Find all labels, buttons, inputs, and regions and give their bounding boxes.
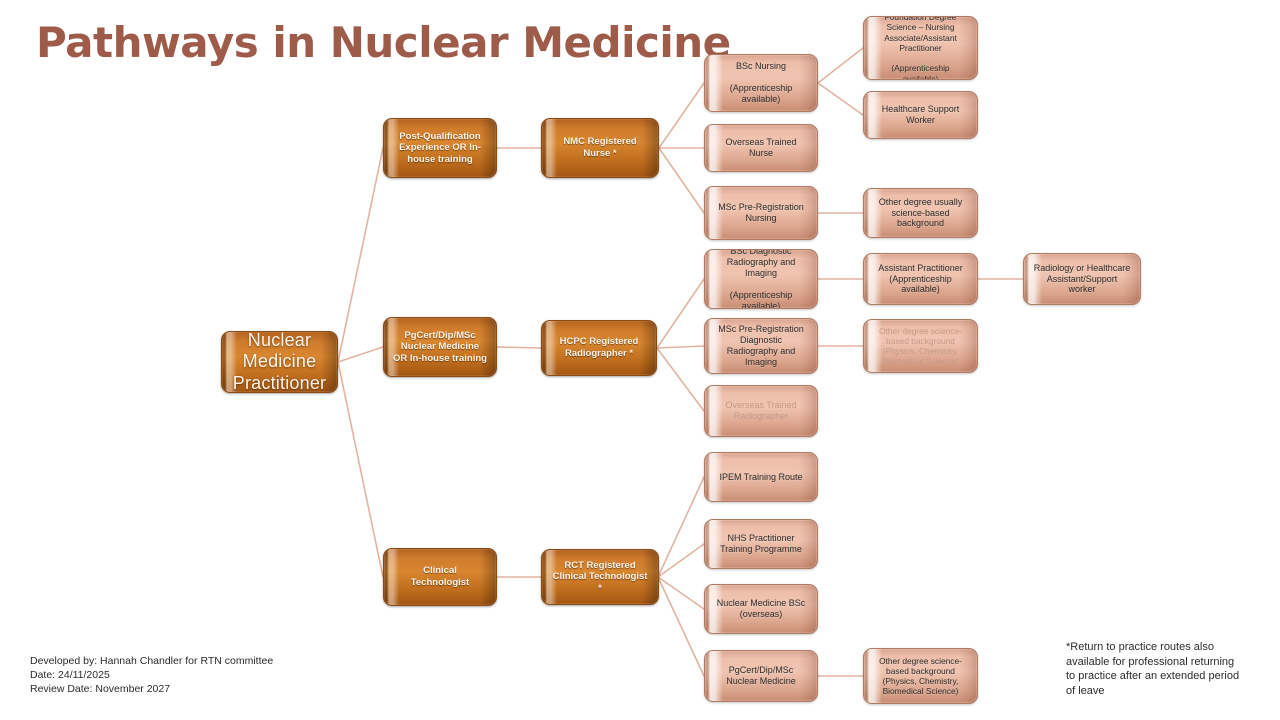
node-foundation-degree-science[interactable]: Foundation Degree Science – Nursing Asso…: [863, 16, 978, 80]
node-post-qualification-experience[interactable]: Post-Qualification Experience OR In-hous…: [383, 118, 497, 178]
node-label: BSc Nursing (Apprenticeship available): [705, 61, 817, 105]
node-pgcert-nuclear-medicine-or-inhouse[interactable]: PgCert/Dip/MSc Nuclear Medicine OR In-ho…: [383, 317, 497, 377]
node-label: RCT Registered Clinical Technologist *: [542, 560, 658, 595]
node-rct-registered-clinical-technologist[interactable]: RCT Registered Clinical Technologist *: [541, 549, 659, 605]
node-overseas-trained-radiographer[interactable]: Overseas Trained Radiographer: [704, 385, 818, 437]
node-label: IPEM Training Route: [705, 472, 817, 483]
node-bsc-nursing[interactable]: BSc Nursing (Apprenticeship available): [704, 54, 818, 112]
node-label: Other degree usually science-based backg…: [864, 197, 977, 230]
node-other-degree-science-based-radiography[interactable]: Other degree science-based background (P…: [863, 319, 978, 373]
node-label: Clinical Technologist: [384, 565, 496, 588]
node-label: Radiology or Healthcare Assistant/Suppor…: [1024, 263, 1140, 296]
node-label: MSc Pre-Registration Nursing: [705, 202, 817, 224]
slide-canvas: Pathways in Nuclear Medicine: [0, 0, 1280, 720]
node-hcpc-registered-radiographer[interactable]: HCPC Registered Radiographer *: [541, 320, 657, 376]
return-to-practice-note: *Return to practice routes also availabl…: [1066, 640, 1242, 698]
node-other-degree-usually-science-based[interactable]: Other degree usually science-based backg…: [863, 188, 978, 238]
node-other-degree-science-based-technologist[interactable]: Other degree science-based background (P…: [863, 648, 978, 704]
node-nmc-registered-nurse[interactable]: NMC Registered Nurse *: [541, 118, 659, 178]
node-label: NHS Practitioner Training Programme: [705, 533, 817, 555]
page-title: Pathways in Nuclear Medicine: [36, 18, 731, 67]
node-nhs-practitioner-training-programme[interactable]: NHS Practitioner Training Programme: [704, 519, 818, 569]
node-msc-pre-registration-nursing[interactable]: MSc Pre-Registration Nursing: [704, 186, 818, 240]
node-ipem-training-route[interactable]: IPEM Training Route: [704, 452, 818, 502]
footer-credits: Developed by: Hannah Chandler for RTN co…: [30, 655, 273, 697]
node-nuclear-medicine-bsc-overseas[interactable]: Nuclear Medicine BSc (overseas): [704, 584, 818, 634]
node-label: PgCert/Dip/MSc Nuclear Medicine: [705, 665, 817, 687]
node-label: Overseas Trained Nurse: [705, 137, 817, 159]
node-label: Post-Qualification Experience OR In-hous…: [384, 131, 496, 166]
node-radiology-or-healthcare-assistant[interactable]: Radiology or Healthcare Assistant/Suppor…: [1023, 253, 1141, 305]
node-healthcare-support-worker[interactable]: Healthcare Support Worker: [863, 91, 978, 139]
node-clinical-technologist[interactable]: Clinical Technologist: [383, 548, 497, 606]
node-overseas-trained-nurse[interactable]: Overseas Trained Nurse: [704, 124, 818, 172]
node-label: BSc Diagnostic Radiography and Imaging (…: [705, 249, 817, 309]
node-label: Nuclear Medicine Practitioner: [222, 331, 337, 393]
node-label: PgCert/Dip/MSc Nuclear Medicine OR In-ho…: [384, 330, 496, 365]
node-label: HCPC Registered Radiographer *: [542, 336, 656, 359]
node-assistant-practitioner[interactable]: Assistant Practitioner (Apprenticeship a…: [863, 253, 978, 305]
node-label: Overseas Trained Radiographer: [705, 400, 817, 422]
node-msc-pre-registration-diagnostic-radiography[interactable]: MSc Pre-Registration Diagnostic Radiogra…: [704, 318, 818, 374]
node-label: Healthcare Support Worker: [864, 104, 977, 126]
node-label: Nuclear Medicine BSc (overseas): [705, 598, 817, 620]
node-label: MSc Pre-Registration Diagnostic Radiogra…: [705, 324, 817, 368]
node-label: Assistant Practitioner (Apprenticeship a…: [864, 263, 977, 296]
node-label: NMC Registered Nurse *: [542, 136, 658, 159]
node-bsc-diagnostic-radiography[interactable]: BSc Diagnostic Radiography and Imaging (…: [704, 249, 818, 309]
node-label: Foundation Degree Science – Nursing Asso…: [864, 16, 977, 80]
node-nuclear-medicine-practitioner[interactable]: Nuclear Medicine Practitioner: [221, 331, 338, 393]
node-label: Other degree science-based background (P…: [864, 326, 977, 367]
node-pgcert-dip-msc-nuclear-medicine[interactable]: PgCert/Dip/MSc Nuclear Medicine: [704, 650, 818, 702]
node-label: Other degree science-based background (P…: [864, 656, 977, 697]
